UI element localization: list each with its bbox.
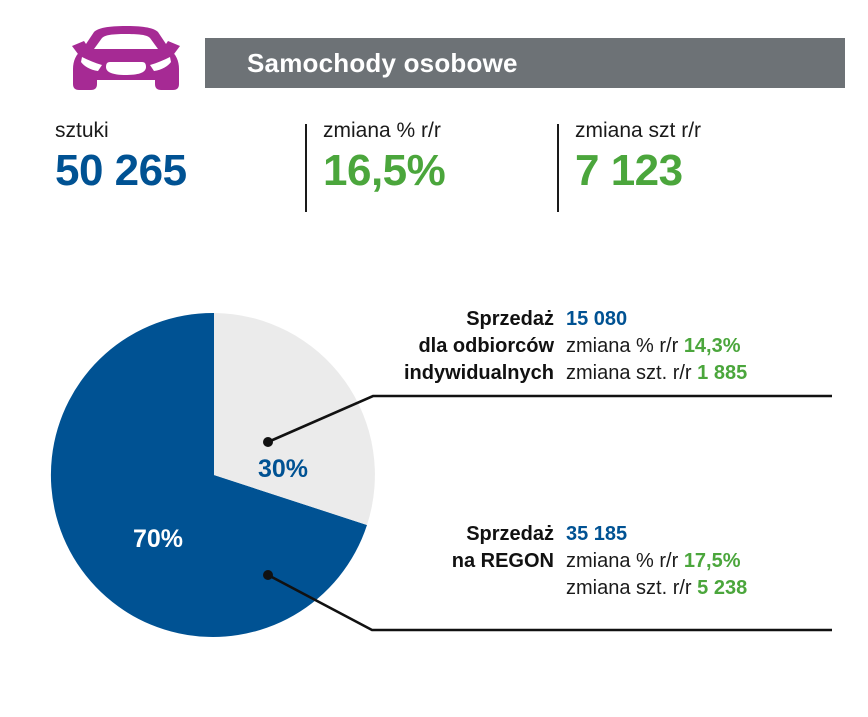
callout-indywidualni-title: Sprzedaż dla odbiorców indywidualnych	[364, 306, 566, 387]
callout-regon-title: Sprzedaż na REGON	[364, 521, 566, 575]
leader-line-1	[268, 396, 832, 442]
callout-indywidualni-cnt-row: zmiana szt. r/r 1 885	[566, 360, 747, 387]
infographic-page: Samochody osobowe sztuki 50 265 zmiana %…	[0, 0, 868, 717]
kpi-divider-2	[557, 124, 559, 212]
kpi-zmiana-procent: zmiana % r/r 16,5%	[323, 118, 445, 198]
callout-regon-pct-label: zmiana % r/r	[566, 550, 678, 572]
kpi-zmiana-sztuk: zmiana szt r/r 7 123	[575, 118, 701, 198]
callout-regon-stats: 35 185 zmiana % r/r 17,5% zmiana szt. r/…	[566, 521, 747, 602]
callout-indywidualni-pct-value: 14,3%	[684, 335, 741, 357]
kpi-row: sztuki 50 265 zmiana % r/r 16,5% zmiana …	[0, 118, 868, 218]
callout-indywidualni-cnt-value: 1 885	[697, 362, 747, 384]
leader-dot-2	[263, 570, 273, 580]
callout-indywidualni-total: 15 080	[566, 306, 747, 333]
pie-slice-indywidualni	[214, 313, 375, 525]
pie-label-indywidualni: 30%	[258, 455, 308, 484]
kpi-zmiana-procent-value: 16,5%	[323, 144, 445, 198]
kpi-divider-1	[305, 124, 307, 212]
car-front-icon	[68, 24, 184, 94]
callout-regon-pct-value: 17,5%	[684, 550, 741, 572]
callout-regon-cnt-value: 5 238	[697, 577, 747, 599]
kpi-sztuki: sztuki 50 265	[55, 118, 187, 198]
callout-indywidualni-pct-row: zmiana % r/r 14,3%	[566, 333, 747, 360]
callout-indywidualni-stats: 15 080 zmiana % r/r 14,3% zmiana szt. r/…	[566, 306, 747, 387]
pie-slice-regon	[51, 313, 367, 637]
page-title: Samochody osobowe	[205, 48, 518, 79]
kpi-zmiana-procent-label: zmiana % r/r	[323, 118, 445, 144]
callout-regon-total: 35 185	[566, 521, 747, 548]
title-bar: Samochody osobowe	[205, 38, 845, 88]
kpi-sztuki-label: sztuki	[55, 118, 187, 144]
pie-label-regon: 70%	[133, 525, 183, 554]
kpi-zmiana-sztuk-value: 7 123	[575, 144, 701, 198]
callout-regon: Sprzedaż na REGON 35 185 zmiana % r/r 17…	[364, 521, 747, 602]
callout-indywidualni-pct-label: zmiana % r/r	[566, 335, 678, 357]
callout-indywidualni: Sprzedaż dla odbiorców indywidualnych 15…	[364, 306, 747, 387]
callout-regon-cnt-row: zmiana szt. r/r 5 238	[566, 575, 747, 602]
callout-indywidualni-cnt-label: zmiana szt. r/r	[566, 362, 692, 384]
leader-dot-1	[263, 437, 273, 447]
kpi-sztuki-value: 50 265	[55, 144, 187, 198]
callout-regon-pct-row: zmiana % r/r 17,5%	[566, 548, 747, 575]
kpi-zmiana-sztuk-label: zmiana szt r/r	[575, 118, 701, 144]
callout-regon-cnt-label: zmiana szt. r/r	[566, 577, 692, 599]
header: Samochody osobowe	[0, 0, 868, 110]
